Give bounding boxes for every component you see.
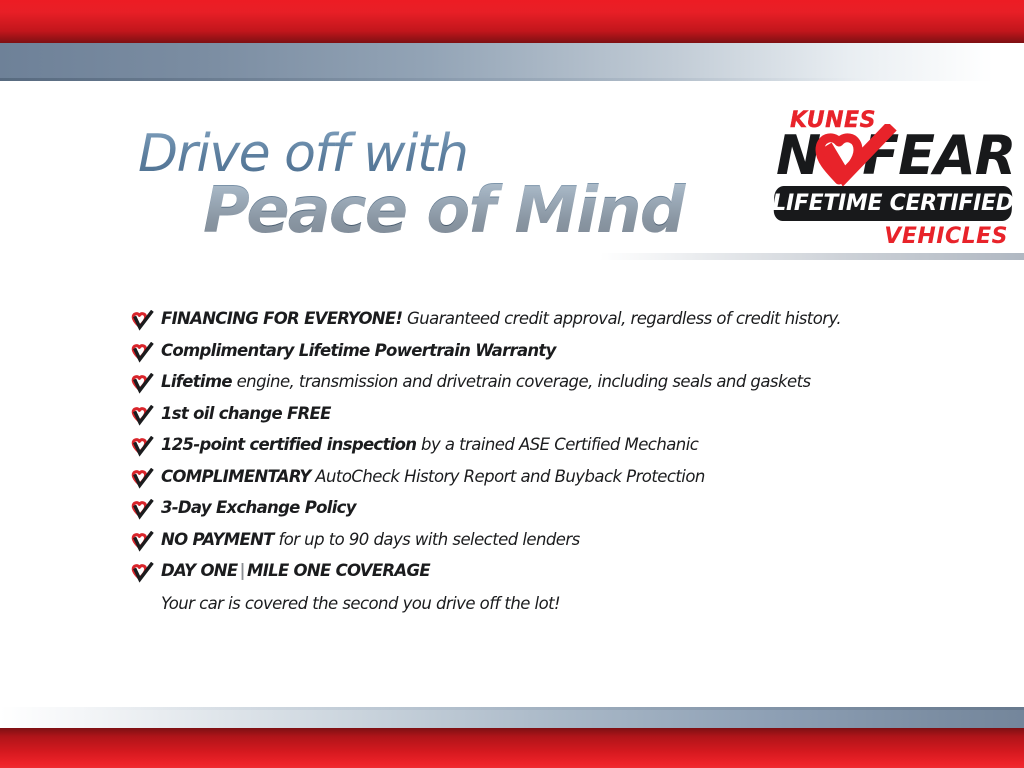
list-item-text: Complimentary Lifetime Powertrain Warran… [161, 340, 556, 361]
list-item-lead-2: MILE ONE COVERAGE [247, 561, 430, 580]
kunes-no-fear-logo: KUNES NFEAR LIFETIME CERTIFIED VEHICLES [768, 108, 1016, 248]
list-item-text: 3-Day Exchange Policy [161, 497, 356, 518]
list-item: COMPLIMENTARY AutoCheck History Report a… [130, 466, 960, 498]
flyer-page: Drive off with Peace of Mind KUNES NFEAR… [0, 0, 1024, 768]
list-item-rest: Guaranteed credit approval, regardless o… [402, 309, 841, 328]
list-item-text: NO PAYMENT for up to 90 days with select… [161, 529, 580, 550]
heart-check-icon [130, 310, 154, 331]
list-item: Lifetime engine, transmission and drivet… [130, 371, 960, 403]
list-item: 3-Day Exchange Policy [130, 497, 960, 529]
list-item-lead: 125-point certified inspection [161, 435, 416, 454]
logo-banner-label: LIFETIME CERTIFIED [774, 186, 1012, 221]
list-item-text: COMPLIMENTARY AutoCheck History Report a… [161, 466, 705, 487]
heart-check-icon [130, 405, 154, 426]
list-item-text: FINANCING FOR EVERYONE! Guaranteed credi… [161, 308, 841, 329]
list-item: 1st oil change FREE [130, 403, 960, 435]
heart-check-icon [130, 531, 154, 552]
headline-divider [600, 253, 1024, 260]
list-item-rest: for up to 90 days with selected lenders [274, 530, 580, 549]
top-gray-band [0, 43, 1024, 81]
heart-check-icon [130, 436, 154, 457]
list-item-lead: 1st oil change FREE [161, 404, 331, 423]
list-item-lead: DAY ONE [161, 561, 237, 580]
heart-check-icon [130, 468, 154, 489]
list-item-lead: Lifetime [161, 372, 232, 391]
list-item-text: Lifetime engine, transmission and drivet… [161, 371, 811, 392]
bottom-gray-band [0, 707, 1024, 728]
bottom-red-band [0, 728, 1024, 768]
list-item-text: 125-point certified inspection by a trai… [161, 434, 698, 455]
heart-check-icon [130, 342, 154, 363]
list-item-rest: AutoCheck History Report and Buyback Pro… [311, 467, 705, 486]
list-item-lead: NO PAYMENT [161, 530, 274, 549]
logo-footer-text: VEHICLES [884, 224, 1008, 249]
top-red-band [0, 0, 1024, 43]
heart-check-icon [130, 562, 154, 583]
list-item-separator: | [237, 561, 246, 580]
headline-line-2: Peace of Mind [203, 176, 758, 246]
list-item-lead: COMPLIMENTARY [161, 467, 311, 486]
heart-check-icon [130, 373, 154, 394]
list-item: NO PAYMENT for up to 90 days with select… [130, 529, 960, 561]
heart-check-icon [130, 499, 154, 520]
list-item-text: DAY ONE|MILE ONE COVERAGE [161, 560, 430, 581]
list-item: Complimentary Lifetime Powertrain Warran… [130, 340, 960, 372]
list-item-rest: by a trained ASE Certified Mechanic [416, 435, 698, 454]
red-check-heart-icon [814, 124, 900, 194]
list-item-lead: Complimentary Lifetime Powertrain Warran… [161, 341, 556, 360]
list-item-rest: engine, transmission and drivetrain cove… [232, 372, 811, 391]
list-item-subline: Your car is covered the second you drive… [161, 593, 960, 614]
list-item-lead: 3-Day Exchange Policy [161, 498, 356, 517]
page-title: Drive off with Peace of Mind [138, 126, 758, 246]
benefits-list: FINANCING FOR EVERYONE! Guaranteed credi… [130, 308, 960, 614]
list-item: 125-point certified inspection by a trai… [130, 434, 960, 466]
list-item: FINANCING FOR EVERYONE! Guaranteed credi… [130, 308, 960, 340]
list-item-lead: FINANCING FOR EVERYONE! [161, 309, 402, 328]
list-item-text: 1st oil change FREE [161, 403, 331, 424]
list-item: DAY ONE|MILE ONE COVERAGE Your car is co… [130, 560, 960, 614]
